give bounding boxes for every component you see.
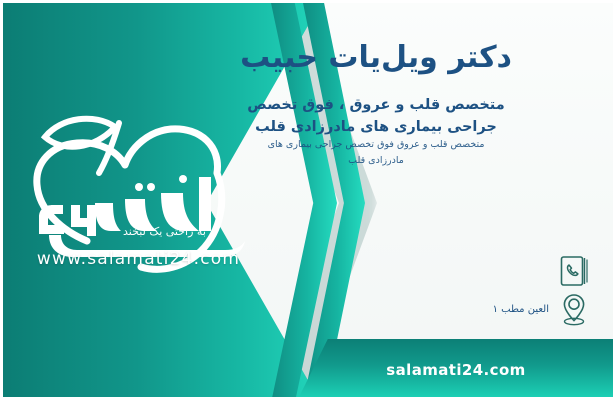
doctor-specialty: متخصص قلب و عروق ، فوق تخصص جراحی بیماری… [161,95,591,139]
specialty-line-2: جراحی بیماری های مادرزادی قلب [161,117,591,139]
specialty-small-line-2: مادرزادی قلب [161,153,591,169]
logo-website-url: www.salamati24.com [31,249,246,269]
doctor-name: دکتر ویل‌یات حبیب [161,39,591,77]
location-pin-icon[interactable] [557,291,591,327]
contact-phone-row[interactable] [549,253,591,289]
specialty-line-1: متخصص قلب و عروق ، فوق تخصص [161,95,591,117]
logo-tagline: به راحتی یک لبخند [123,225,243,238]
phone-book-icon[interactable] [557,253,591,289]
contact-location-label: العین مطب ۱ [493,304,549,315]
footer-website[interactable]: salamati24.com [299,361,613,379]
contact-location-row[interactable]: العین مطب ۱ [493,291,591,327]
specialty-small-line-1: متخصص قلب و عروق فوق تخصص جراحی بیماری ه… [161,137,591,153]
doctor-profile-card: به راحتی یک لبخند www.salamati24.com دکت… [0,0,616,400]
doctor-specialty-secondary: متخصص قلب و عروق فوق تخصص جراحی بیماری ه… [161,137,591,168]
